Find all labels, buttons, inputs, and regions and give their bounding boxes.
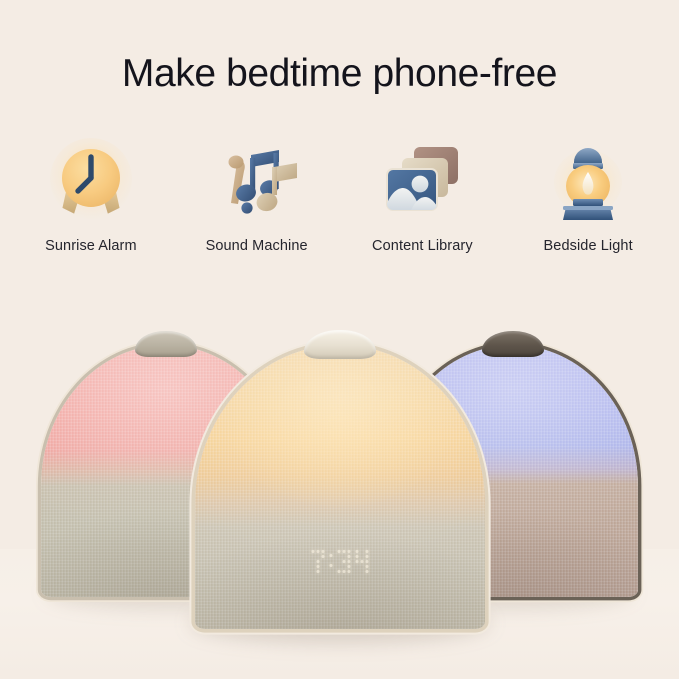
device-left-knob xyxy=(135,331,197,357)
feature-row: Sunrise Alarm xyxy=(8,134,671,254)
feature-label-bedside-light: Bedside Light xyxy=(544,238,633,254)
clock-digit xyxy=(337,550,350,573)
clock-display xyxy=(311,550,368,573)
stacked-photo-cards-icon xyxy=(376,134,468,226)
music-notes-icon xyxy=(211,134,303,226)
feature-label-sunrise-alarm: Sunrise Alarm xyxy=(45,238,137,254)
feature-content-library[interactable]: Content Library xyxy=(340,134,506,254)
page-title: Make bedtime phone-free xyxy=(0,52,679,96)
feature-bedside-light[interactable]: Bedside Light xyxy=(505,134,671,254)
alarm-clock-icon xyxy=(45,134,137,226)
lantern-icon xyxy=(542,134,634,226)
feature-sunrise-alarm[interactable]: Sunrise Alarm xyxy=(8,134,174,254)
feature-label-sound-machine: Sound Machine xyxy=(206,238,308,254)
product-feature-page: Make bedtime phone-free xyxy=(0,0,679,679)
clock-digit xyxy=(311,550,324,573)
product-photo xyxy=(0,288,679,679)
clock-colon xyxy=(329,554,332,567)
device-center-knob xyxy=(304,330,376,359)
device-center xyxy=(195,345,485,629)
feature-label-content-library: Content Library xyxy=(372,238,473,254)
feature-sound-machine[interactable]: Sound Machine xyxy=(174,134,340,254)
device-right-knob xyxy=(482,331,544,357)
clock-digit xyxy=(355,550,368,573)
